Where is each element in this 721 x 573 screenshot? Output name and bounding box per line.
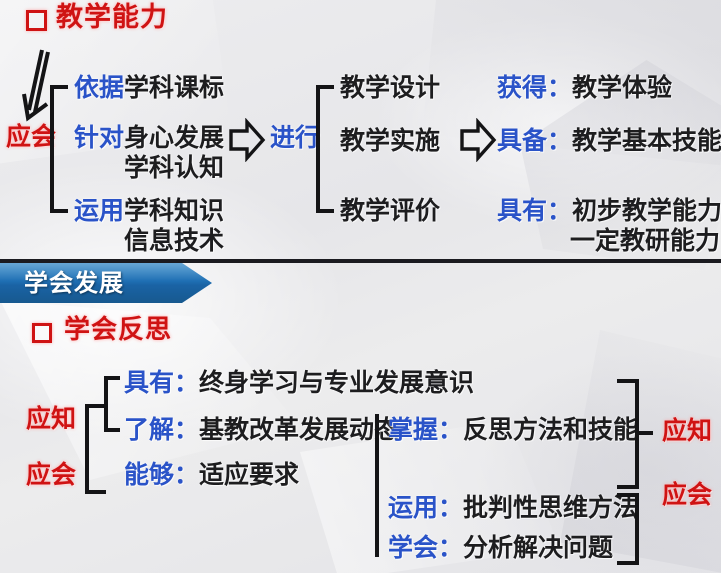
outcome-item-3-body2: 一定教研能力 bbox=[570, 228, 720, 253]
bottom-right-item-2-body: 批判性思维方法 bbox=[463, 493, 638, 522]
bottom-right-item-2-colon: ： bbox=[438, 493, 463, 522]
bottom-right-item-2-prefix: 运用 bbox=[388, 493, 438, 522]
outcome-item-3-prefix: 具有 bbox=[497, 196, 547, 225]
bottom-right-item-3-body: 分析解决问题 bbox=[463, 533, 613, 562]
input-item-1-body: 学科课标 bbox=[124, 73, 224, 102]
bottom-left-item-3-prefix: 能够 bbox=[124, 460, 174, 489]
bottom-right-label-1: 应知 bbox=[662, 418, 712, 443]
bottom-left-item-2-body: 基教改革发展动态 bbox=[199, 415, 399, 444]
bottom-right-item-3-colon: ： bbox=[438, 533, 463, 562]
bottom-right-item-1: 掌握：反思方法和技能 bbox=[388, 417, 638, 442]
outcome-item-2-body: 教学基本技能 bbox=[572, 126, 721, 155]
outcome-item-1-colon: ： bbox=[547, 73, 572, 102]
outcome-item-1-prefix: 获得 bbox=[497, 73, 547, 102]
outcome-item-3-body: 初步教学能力 bbox=[572, 196, 721, 225]
page-title: 教学能力 bbox=[56, 4, 168, 31]
bottom-left-item-3-body: 适应要求 bbox=[199, 460, 299, 489]
bracket-left-top bbox=[50, 85, 68, 89]
input-item-2-body: 身心发展 bbox=[124, 123, 224, 152]
bottom-right-item-2: 运用：批判性思维方法 bbox=[388, 495, 638, 520]
bottom-left-label-1: 应知 bbox=[26, 406, 76, 431]
bottom-right-item-1-body: 反思方法和技能 bbox=[463, 415, 638, 444]
bracket-br-1-stub bbox=[639, 431, 653, 435]
bracket-br-1-top bbox=[617, 379, 639, 383]
bracket-mid-top bbox=[316, 85, 334, 89]
outcome-item-2-prefix: 具备 bbox=[497, 126, 547, 155]
bracket-br-2-bottom bbox=[617, 561, 639, 565]
input-item-3-body: 学科知识 bbox=[124, 196, 224, 225]
outcome-item-3-colon: ： bbox=[547, 196, 572, 225]
bracket-left-vertical bbox=[50, 85, 54, 213]
bottom-left-item-1-colon: ： bbox=[174, 368, 199, 397]
input-item-1: 依据学科课标 bbox=[74, 75, 224, 100]
process-item-3: 教学评价 bbox=[340, 198, 440, 223]
bottom-right-item-3: 学会：分析解决问题 bbox=[388, 535, 613, 560]
bottom-left-item-2: 了解：基教改革发展动态 bbox=[124, 417, 399, 442]
bottom-left-item-3-colon: ： bbox=[174, 460, 199, 489]
bracket-br-1-bottom bbox=[617, 485, 639, 489]
section-banner-label: 学会发展 bbox=[24, 271, 124, 295]
slide-canvas: 教学能力 应会 依据学科课标 针对身心发展 学科认知 运用学科知识 信息技术 进… bbox=[0, 0, 721, 573]
bracket-mid-bottom bbox=[316, 209, 334, 213]
process-item-2: 教学实施 bbox=[340, 128, 440, 153]
bottom-middle-divider bbox=[375, 414, 379, 557]
outcome-item-3: 具有：初步教学能力 bbox=[497, 198, 721, 223]
bottom-left-item-2-colon: ： bbox=[174, 415, 199, 444]
bracket-mid-vertical bbox=[316, 85, 320, 213]
outcome-item-1: 获得：教学体验 bbox=[497, 75, 672, 100]
right-block-arrow-icon-2 bbox=[459, 118, 497, 162]
input-item-3-prefix: 运用 bbox=[74, 196, 124, 225]
bottom-left-label-2: 应会 bbox=[26, 462, 76, 487]
bracket-left-bottom bbox=[50, 209, 68, 213]
bottom-left-item-3: 能够：适应要求 bbox=[124, 462, 299, 487]
bottom-right-label-2: 应会 bbox=[662, 482, 712, 507]
input-item-3-body2: 信息技术 bbox=[124, 228, 224, 253]
bracket-br-2-vertical bbox=[635, 493, 639, 565]
section-divider bbox=[0, 259, 721, 263]
bracket-bl-inner-top bbox=[104, 376, 120, 380]
square-bullet-icon-2 bbox=[32, 323, 52, 343]
right-block-arrow-icon-1 bbox=[228, 118, 266, 162]
bottom-right-item-1-prefix: 掌握 bbox=[388, 415, 438, 444]
bottom-left-item-1: 具有：终身学习与专业发展意识 bbox=[124, 370, 474, 395]
input-item-3: 运用学科知识 bbox=[74, 198, 224, 223]
bracket-br-2-top bbox=[617, 493, 639, 497]
bottom-left-item-1-prefix: 具有 bbox=[124, 368, 174, 397]
input-item-1-prefix: 依据 bbox=[74, 73, 124, 102]
bracket-bl-inner-bottom bbox=[104, 428, 120, 432]
square-bullet-icon bbox=[26, 10, 47, 31]
input-item-2-body2: 学科认知 bbox=[124, 155, 224, 180]
bottom-right-item-3-prefix: 学会 bbox=[388, 533, 438, 562]
bracket-bl-outer-top bbox=[85, 404, 106, 408]
outcome-item-2: 具备：教学基本技能 bbox=[497, 128, 721, 153]
input-item-2: 针对身心发展 bbox=[74, 125, 224, 150]
bracket-bl-outer-vertical bbox=[85, 404, 89, 494]
section-title-bottom: 学会反思 bbox=[64, 317, 172, 343]
outcome-item-1-body: 教学体验 bbox=[572, 73, 672, 102]
outcome-item-2-colon: ： bbox=[547, 126, 572, 155]
bottom-left-item-1-body: 终身学习与专业发展意识 bbox=[199, 368, 474, 397]
process-item-1: 教学设计 bbox=[340, 75, 440, 100]
bottom-right-item-1-colon: ： bbox=[438, 415, 463, 444]
bottom-left-item-2-prefix: 了解 bbox=[124, 415, 174, 444]
input-item-2-prefix: 针对 bbox=[74, 123, 124, 152]
connector-label-1: 进行 bbox=[270, 125, 320, 150]
top-left-label: 应会 bbox=[6, 124, 56, 149]
bracket-bl-outer-bottom bbox=[85, 490, 106, 494]
